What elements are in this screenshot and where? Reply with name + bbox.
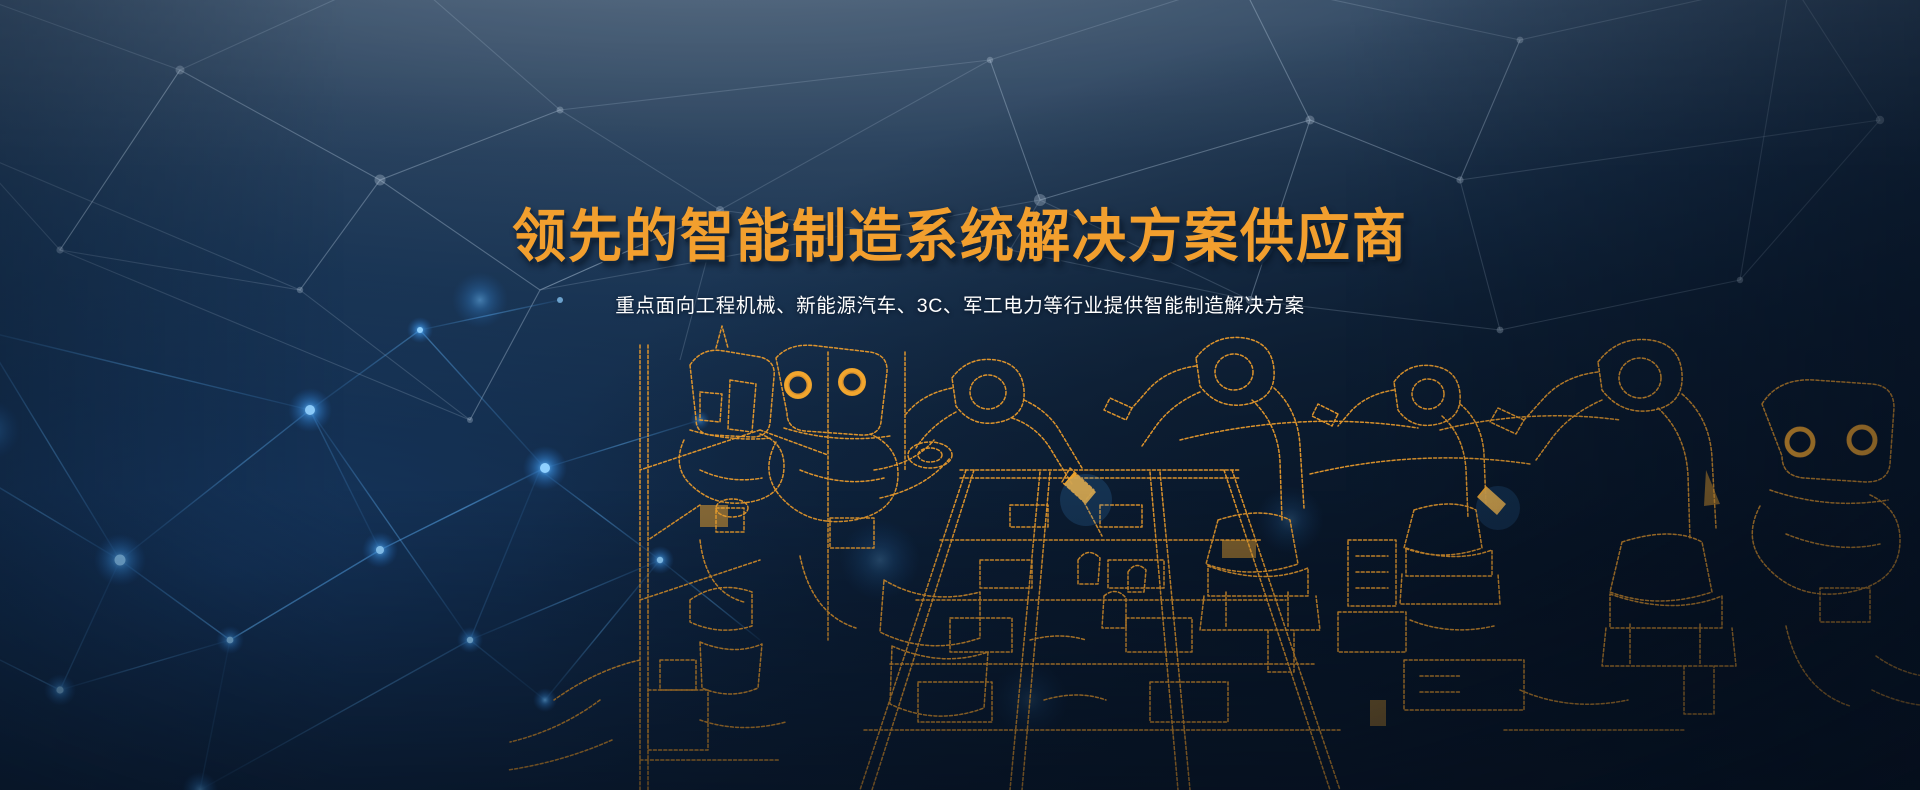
background-vignette (0, 0, 1920, 790)
hero-subheadline: 重点面向工程机械、新能源汽车、3C、军工电力等行业提供智能制造解决方案 (0, 292, 1920, 321)
hero-text-block: 领先的智能制造系统解决方案供应商 重点面向工程机械、新能源汽车、3C、军工电力等… (0, 206, 1920, 322)
hero-banner: 领先的智能制造系统解决方案供应商 重点面向工程机械、新能源汽车、3C、军工电力等… (0, 0, 1920, 790)
hero-headline: 领先的智能制造系统解决方案供应商 (0, 206, 1920, 268)
